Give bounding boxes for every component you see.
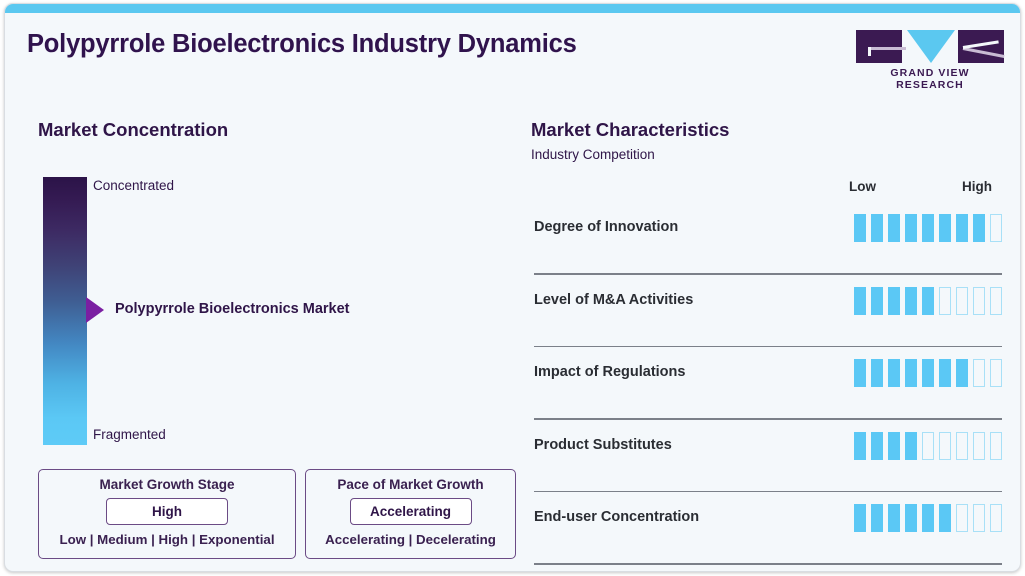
characteristic-label: Product Substitutes — [534, 437, 672, 453]
characteristic-label: Degree of Innovation — [534, 219, 678, 235]
characteristic-rating-bars — [854, 287, 1002, 315]
rating-segment-filled — [939, 359, 951, 387]
rating-segment-filled — [939, 214, 951, 242]
rating-segment-empty — [973, 432, 985, 460]
rating-segment-empty — [922, 432, 934, 460]
characteristic-row: End-user Concentration — [534, 492, 1002, 565]
page-title: Polypyrrole Bioelectronics Industry Dyna… — [27, 30, 577, 59]
characteristic-label: End-user Concentration — [534, 509, 699, 525]
pace-of-market-growth-title: Pace of Market Growth — [306, 477, 515, 492]
characteristic-row: Level of M&A Activities — [534, 275, 1002, 348]
concentration-bottom-label: Fragmented — [93, 427, 166, 442]
rating-segment-filled — [956, 214, 968, 242]
pace-of-market-growth-box: Pace of Market Growth Accelerating Accel… — [305, 469, 516, 559]
market-growth-stage-box: Market Growth Stage High Low | Medium | … — [38, 469, 296, 559]
rating-segment-filled — [854, 432, 866, 460]
characteristic-rating-bars — [854, 504, 1002, 532]
infographic-card: Polypyrrole Bioelectronics Industry Dyna… — [4, 3, 1021, 572]
rating-segment-filled — [854, 287, 866, 315]
rating-segment-empty — [956, 432, 968, 460]
rating-segment-filled — [888, 504, 900, 532]
rating-segment-empty — [939, 287, 951, 315]
logo-v-triangle-icon — [907, 30, 955, 63]
top-accent-stripe — [5, 4, 1020, 13]
concentration-gradient-bar — [43, 177, 87, 445]
rating-segment-empty — [956, 287, 968, 315]
characteristic-rating-bars — [854, 359, 1002, 387]
rating-segment-filled — [905, 287, 917, 315]
logo-g-tick — [868, 47, 871, 56]
rating-segment-empty — [990, 214, 1002, 242]
pace-of-market-growth-value: Accelerating — [350, 498, 472, 525]
concentration-top-label: Concentrated — [93, 178, 174, 193]
market-position-label: Polypyrrole Bioelectronics Market — [115, 301, 350, 317]
rating-segment-filled — [973, 214, 985, 242]
rating-segment-filled — [871, 504, 883, 532]
rating-segment-empty — [973, 359, 985, 387]
rating-segment-filled — [871, 214, 883, 242]
rating-segment-empty — [990, 432, 1002, 460]
rating-segment-filled — [854, 504, 866, 532]
market-characteristics-title: Market Characteristics — [531, 119, 729, 141]
rating-segment-filled — [854, 359, 866, 387]
rating-segment-empty — [990, 287, 1002, 315]
logo-wordmark: GRAND VIEW RESEARCH — [856, 67, 1004, 91]
grand-view-research-logo: GRAND VIEW RESEARCH — [856, 30, 1004, 80]
rating-segment-filled — [922, 287, 934, 315]
rating-segment-empty — [939, 432, 951, 460]
rating-segment-filled — [871, 432, 883, 460]
row-separator — [534, 563, 1002, 564]
rating-segment-empty — [973, 504, 985, 532]
logo-marks — [856, 30, 1004, 63]
market-growth-stage-scale: Low | Medium | High | Exponential — [39, 532, 295, 547]
market-growth-stage-title: Market Growth Stage — [39, 477, 295, 492]
rating-segment-filled — [956, 359, 968, 387]
rating-segment-filled — [888, 214, 900, 242]
pace-of-market-growth-scale: Accelerating | Decelerating — [306, 532, 515, 547]
rating-segment-filled — [888, 359, 900, 387]
market-characteristics-rows: Degree of InnovationLevel of M&A Activit… — [534, 202, 1002, 565]
rating-segment-empty — [956, 504, 968, 532]
scale-low-label: Low — [849, 179, 876, 194]
rating-segment-filled — [905, 214, 917, 242]
rating-segment-filled — [871, 359, 883, 387]
rating-segment-filled — [854, 214, 866, 242]
characteristic-label: Impact of Regulations — [534, 364, 685, 380]
characteristic-row: Degree of Innovation — [534, 202, 1002, 275]
rating-segment-filled — [888, 287, 900, 315]
characteristic-label: Level of M&A Activities — [534, 292, 693, 308]
rating-segment-filled — [905, 504, 917, 532]
rating-segment-filled — [871, 287, 883, 315]
rating-segment-filled — [888, 432, 900, 460]
rating-segment-filled — [905, 432, 917, 460]
rating-segment-filled — [922, 504, 934, 532]
rating-segment-filled — [939, 504, 951, 532]
characteristic-row: Product Substitutes — [534, 420, 1002, 493]
market-position-arrow-icon — [86, 297, 104, 323]
market-characteristics-subtitle: Industry Competition — [531, 147, 655, 162]
rating-segment-empty — [990, 504, 1002, 532]
rating-segment-filled — [922, 359, 934, 387]
market-growth-stage-value: High — [106, 498, 228, 525]
rating-segment-empty — [990, 359, 1002, 387]
characteristic-rating-bars — [854, 432, 1002, 460]
characteristic-rating-bars — [854, 214, 1002, 242]
market-concentration-title: Market Concentration — [38, 119, 228, 141]
characteristic-row: Impact of Regulations — [534, 347, 1002, 420]
rating-segment-filled — [922, 214, 934, 242]
rating-segment-filled — [905, 359, 917, 387]
scale-high-label: High — [962, 179, 992, 194]
logo-g-bar — [868, 47, 906, 50]
rating-segment-empty — [973, 287, 985, 315]
